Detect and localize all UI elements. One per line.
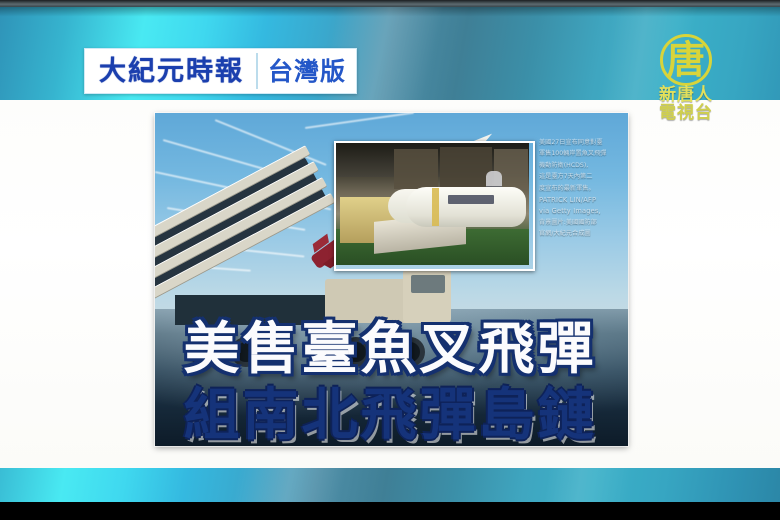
bottom-border-bar (0, 502, 780, 520)
broadcast-graphic: 大紀元時報 台灣版 唐 新唐人 電視台 (0, 0, 780, 520)
inset-photo (334, 141, 535, 271)
station-logo-name-line1: 新唐人 (640, 86, 732, 104)
caption-line: 這是臺方7天內第二 (539, 173, 619, 181)
missile-model-body (406, 187, 526, 227)
missile-model-band (432, 188, 439, 226)
headline-line-2: 組南北飛彈島鏈 (0, 384, 780, 446)
truck-windshield (411, 275, 445, 293)
missile-model-label (448, 195, 494, 204)
headline-block: 美售臺魚叉飛彈 組南北飛彈島鏈 (0, 318, 780, 446)
station-logo-name-line2: 電視台 (640, 104, 732, 122)
masthead-title: 大紀元時報 (85, 49, 256, 93)
headline-line-1: 美售臺魚叉飛彈 (0, 318, 780, 380)
exhibition-hall (336, 143, 529, 265)
photo-caption-block: 美國27日宣布同意對臺 軍售100輛岸置魚叉飛彈 機動防衛(HCDS), 這是臺… (537, 137, 621, 287)
masthead-edition: 台灣版 (258, 49, 356, 93)
caption-credit-source: via Getty Images, (539, 207, 619, 215)
display-panel (394, 149, 438, 189)
caption-line: 機動防衛(HCDS), (539, 162, 619, 170)
caption-line: 官網/大紀元合成圖 (539, 230, 619, 238)
station-logo: 唐 新唐人 電視台 (640, 32, 732, 132)
masthead-title-text: 大紀元時報 (99, 58, 244, 85)
masthead-edition-text: 台灣版 (268, 59, 346, 84)
station-logo-name: 新唐人 電視台 (640, 86, 732, 122)
display-panel (440, 147, 492, 191)
caption-line: 美國27日宣布同意對臺 (539, 139, 619, 147)
station-logo-mark: 唐 (667, 39, 705, 81)
caption-line: 軍售100輛岸置魚叉飛彈 (539, 150, 619, 158)
masthead-logo: 大紀元時報 台灣版 (84, 48, 357, 94)
caption-credit: PATRICK LIN/AFP (539, 196, 619, 204)
caption-line: 度宣布的最新軍售。 (539, 185, 619, 193)
top-border-bar (0, 0, 780, 7)
caption-line: 背景圖片:美國國防部 (539, 219, 619, 227)
